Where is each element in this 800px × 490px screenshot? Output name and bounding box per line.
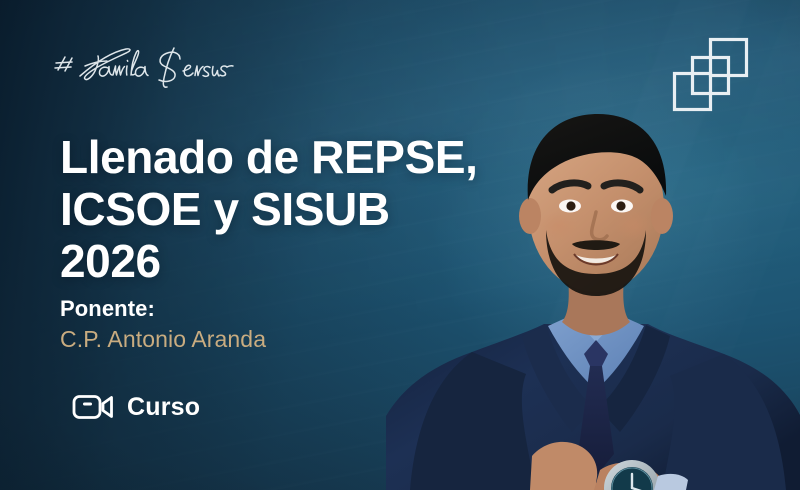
speaker-label: Ponente: <box>60 295 460 323</box>
page-title: Llenado de REPSE, ICSOE y SISUB 2026 <box>60 132 490 288</box>
title-line-2: ICSOE y SISUB 2026 <box>60 183 390 287</box>
video-camera-icon <box>72 392 114 422</box>
right-sleeve <box>662 354 786 490</box>
speaker-block: Ponente: C.P. Antonio Aranda <box>60 295 460 355</box>
speaker-name: C.P. Antonio Aranda <box>60 325 460 354</box>
badge-label: Curso <box>127 393 200 422</box>
course-promo-banner: Llenado de REPSE, ICSOE y SISUB 2026 Pon… <box>0 0 800 490</box>
brand-handle-script <box>52 40 237 92</box>
title-line-1: Llenado de REPSE, <box>60 131 478 183</box>
course-type-badge: Curso <box>72 392 200 422</box>
